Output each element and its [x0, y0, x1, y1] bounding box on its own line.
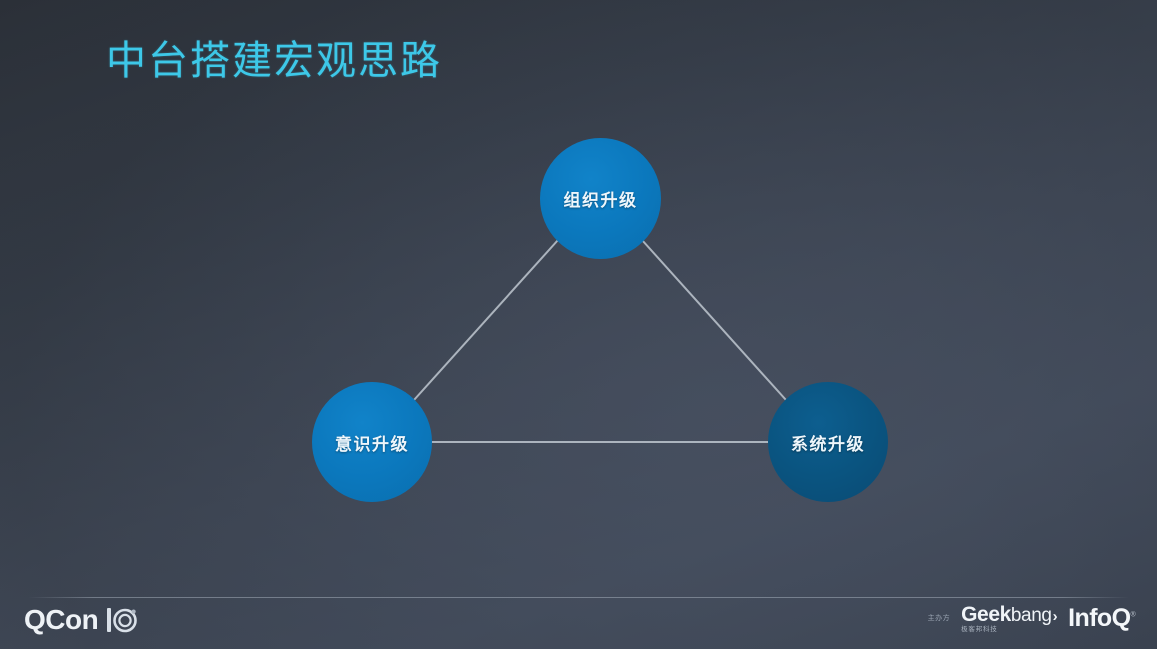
infoq-wordmark: InfoQ — [1068, 604, 1130, 632]
footer-divider — [28, 597, 1129, 598]
node-organization-label: 组织升级 — [564, 186, 638, 211]
connector-lines — [0, 0, 1157, 649]
node-system[interactable]: 系统升级 — [768, 382, 888, 502]
edge-awareness-organization — [414, 240, 558, 400]
node-organization[interactable]: 组织升级 — [540, 138, 661, 259]
slide-canvas: 中台搭建宏观思路 组织升级 意识升级 系统升级 QCon — [0, 0, 1157, 649]
qcon-anniversary-zero-icon — [112, 607, 138, 633]
infoq-logo: InfoQ® — [1068, 606, 1135, 631]
qcon-anniversary-one — [107, 608, 111, 632]
triangle-diagram: 组织升级 意识升级 系统升级 — [0, 0, 1157, 649]
node-awareness-label: 意识升级 — [335, 430, 409, 455]
geekbang-bang-text: bang — [1011, 606, 1052, 625]
geekbang-geek-text: Geek — [961, 604, 1011, 625]
geekbang-subtitle: 极客邦科技 — [961, 627, 998, 634]
qcon-anniversary-icon — [107, 607, 138, 633]
qcon-wordmark: QCon — [24, 606, 98, 634]
infoq-trademark-icon: ® — [1130, 612, 1135, 619]
node-awareness[interactable]: 意识升级 — [312, 382, 432, 502]
host-tag-label: 主办方 — [928, 615, 951, 623]
edge-organization-system — [642, 240, 786, 400]
qcon-logo: QCon — [24, 606, 138, 634]
node-system-label: 系统升级 — [791, 430, 865, 455]
geekbang-wordmark: Geek bang › — [961, 604, 1057, 625]
geekbang-logo: Geek bang › 极客邦科技 — [961, 604, 1057, 634]
geekbang-arrow-icon: › — [1053, 609, 1058, 624]
sponsor-logos: 主办方 Geek bang › 极客邦科技 InfoQ® — [928, 604, 1135, 634]
